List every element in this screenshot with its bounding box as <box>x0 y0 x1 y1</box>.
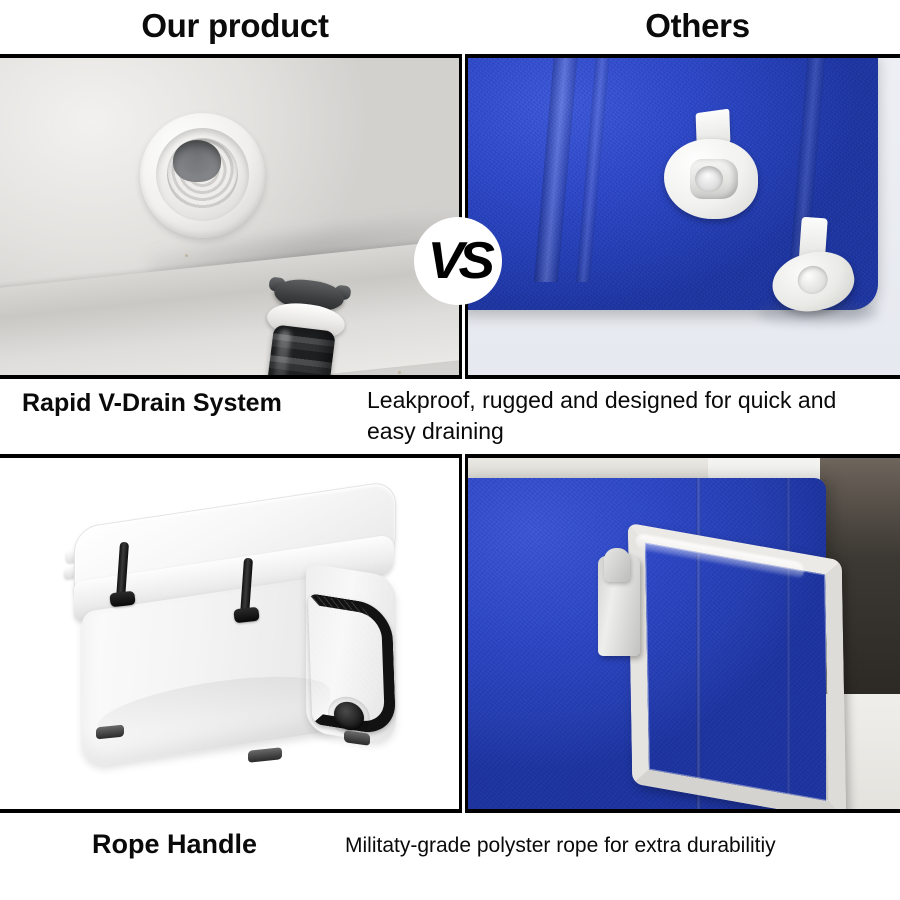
feature-title-handle: Rope Handle <box>92 829 257 860</box>
feature-description-handle: Militaty-grade polyster rope for extra d… <box>345 834 776 858</box>
caption-bar-handle: Rope Handle Militaty-grade polyster rope… <box>0 818 900 888</box>
t-latch-left <box>114 542 130 616</box>
white-cooler <box>52 496 412 774</box>
handle-hinge-knob <box>604 548 630 582</box>
vs-badge-top: VS <box>414 217 502 305</box>
caption-bar-drain: Rapid V-Drain System Leakproof, rugged a… <box>0 383 900 451</box>
photo-blue-cooler-rigid-handle <box>468 458 900 809</box>
column-header-our-product: Our product <box>60 4 410 48</box>
photo-white-cooler-drain-port <box>0 58 459 375</box>
comparison-infographic: Our product Others <box>0 0 900 900</box>
latch-foot <box>109 591 135 608</box>
feature-title-drain: Rapid V-Drain System <box>22 389 282 418</box>
white-drain-spout <box>664 133 760 221</box>
drain-plug-assembly <box>254 275 351 375</box>
feature-description-drain: Leakproof, rugged and designed for quick… <box>367 385 847 447</box>
photo-white-cooler-product <box>0 458 459 809</box>
vs-label: VS <box>427 235 489 287</box>
photo-panel-our-handle <box>0 454 462 813</box>
feature-row-drain: VS <box>0 54 900 379</box>
photo-panel-others-handle <box>465 454 900 813</box>
photo-blue-cooler-drain-spout <box>468 58 900 375</box>
surface-speck <box>398 371 401 374</box>
feature-row-handle: VS <box>0 454 900 813</box>
column-header-others: Others <box>530 4 865 48</box>
surface-speck <box>185 254 188 257</box>
cooler-foot <box>248 747 282 763</box>
t-latch-right <box>238 558 254 632</box>
latch-foot <box>233 607 259 624</box>
spout-bore <box>695 166 723 192</box>
cooler-foot <box>344 730 370 746</box>
photo-panel-our-drain <box>0 54 462 379</box>
drain-port-bore <box>173 140 221 182</box>
photo-panel-others-drain <box>465 54 900 379</box>
